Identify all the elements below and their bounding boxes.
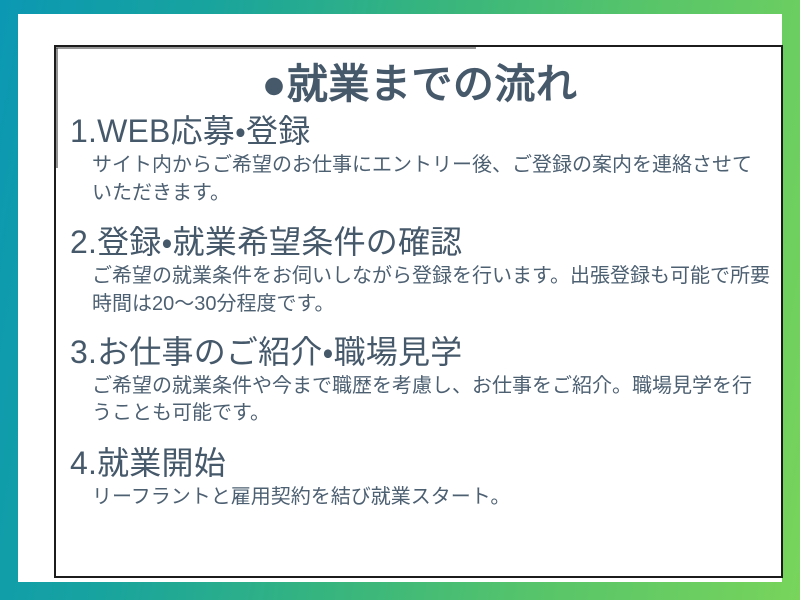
step-body-4: リーフラントと雇用契約を結び就業スタート。 [66, 484, 773, 512]
content-frame: ●就業までの流れ 1.WEB応募・登録 サイト内からご希望のお仕事にエントリー後… [54, 45, 783, 578]
step-body-2: ご希望の就業条件をお伺いしながら登録を行います。出張登録も可能で所要時間は20〜… [66, 263, 773, 318]
step-heading-4: 4.就業開始 [66, 444, 773, 483]
step-item-4: 4.就業開始 リーフラントと雇用契約を結び就業スタート。 [66, 444, 773, 512]
step-item-3: 3.お仕事のご紹介・職場見学 ご希望の就業条件や今まで職歴を考慮し、お仕事をご紹… [66, 333, 773, 428]
white-card: ●就業までの流れ 1.WEB応募・登録 サイト内からご希望のお仕事にエントリー後… [18, 14, 782, 582]
step-body-3: ご希望の就業条件や今まで職歴を考慮し、お仕事をご紹介。職場見学を行うことも可能で… [66, 373, 773, 428]
page-title: ●就業までの流れ [66, 61, 773, 108]
frame-inner: ●就業までの流れ 1.WEB応募・登録 サイト内からご希望のお仕事にエントリー後… [56, 47, 781, 576]
poster-canvas: ●就業までの流れ 1.WEB応募・登録 サイト内からご希望のお仕事にエントリー後… [0, 0, 800, 600]
step-heading-3: 3.お仕事のご紹介・職場見学 [66, 333, 773, 372]
step-heading-2: 2.登録・就業希望条件の確認 [66, 223, 773, 262]
steps-list: 1.WEB応募・登録 サイト内からご希望のお仕事にエントリー後、ご登録の案内を連… [66, 112, 773, 511]
step-body-1: サイト内からご希望のお仕事にエントリー後、ご登録の案内を連絡させていただきます。 [66, 152, 773, 207]
step-item-1: 1.WEB応募・登録 サイト内からご希望のお仕事にエントリー後、ご登録の案内を連… [66, 112, 773, 207]
step-heading-1: 1.WEB応募・登録 [66, 112, 773, 151]
step-item-2: 2.登録・就業希望条件の確認 ご希望の就業条件をお伺いしながら登録を行います。出… [66, 223, 773, 318]
